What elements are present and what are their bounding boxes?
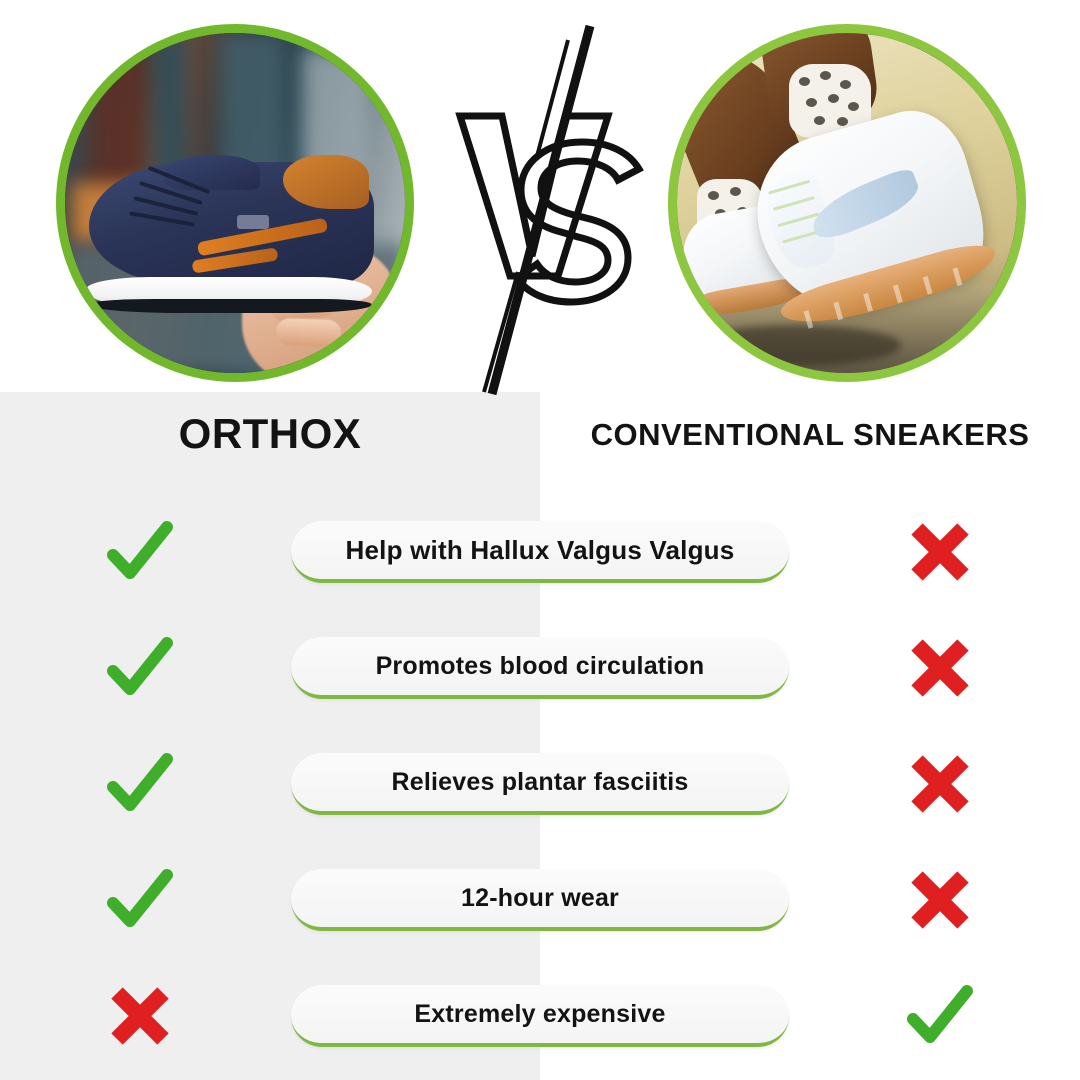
feature-pill: Promotes blood circulation <box>291 637 789 699</box>
feature-pill: 12-hour wear <box>291 869 789 931</box>
right-product-image <box>668 24 1026 382</box>
right-mark-cell <box>800 979 1080 1053</box>
right-mark-cell <box>800 863 1080 937</box>
navy-sneaker <box>89 155 375 311</box>
feature-cell: Relieves plantar fasciitis <box>280 753 800 815</box>
cross-icon <box>903 631 977 705</box>
cross-icon <box>903 515 977 589</box>
feature-cell: Promotes blood circulation <box>280 637 800 699</box>
comparison-infographic: ORTHOX CONVENTIONAL SNEAKERS Help with H… <box>0 0 1080 1080</box>
feature-cell: 12-hour wear <box>280 869 800 931</box>
column-titles: ORTHOX CONVENTIONAL SNEAKERS <box>0 408 1080 468</box>
right-mark-cell <box>800 515 1080 589</box>
check-icon <box>103 515 177 589</box>
left-product-image <box>56 24 414 382</box>
feature-pill: Help with Hallux Valgus Valgus <box>291 521 789 583</box>
table-row: 12-hour wear <box>0 842 1080 958</box>
feature-cell: Extremely expensive <box>280 985 800 1047</box>
hero-section <box>0 0 1080 400</box>
check-icon <box>103 631 177 705</box>
cross-icon <box>103 979 177 1053</box>
comparison-rows: Help with Hallux Valgus Valgus Promotes … <box>0 494 1080 1074</box>
feature-pill: Extremely expensive <box>291 985 789 1047</box>
right-column-title: CONVENTIONAL SNEAKERS <box>540 408 1080 462</box>
feature-cell: Help with Hallux Valgus Valgus <box>280 521 800 583</box>
table-row: Promotes blood circulation <box>0 610 1080 726</box>
feature-pill: Relieves plantar fasciitis <box>291 753 789 815</box>
table-row: Help with Hallux Valgus Valgus <box>0 494 1080 610</box>
left-mark-cell <box>0 863 280 937</box>
left-mark-cell <box>0 631 280 705</box>
check-icon <box>103 863 177 937</box>
cross-icon <box>903 863 977 937</box>
vs-emblem-icon <box>440 20 660 400</box>
check-icon <box>103 747 177 821</box>
right-mark-cell <box>800 747 1080 821</box>
table-row: Extremely expensive <box>0 958 1080 1074</box>
navy-sneaker-photo <box>65 33 405 373</box>
cross-icon <box>903 747 977 821</box>
white-sneaker-photo <box>677 33 1017 373</box>
left-column-title: ORTHOX <box>0 408 540 460</box>
right-mark-cell <box>800 631 1080 705</box>
check-icon <box>903 979 977 1053</box>
left-mark-cell <box>0 979 280 1053</box>
table-row: Relieves plantar fasciitis <box>0 726 1080 842</box>
left-mark-cell <box>0 747 280 821</box>
left-mark-cell <box>0 515 280 589</box>
